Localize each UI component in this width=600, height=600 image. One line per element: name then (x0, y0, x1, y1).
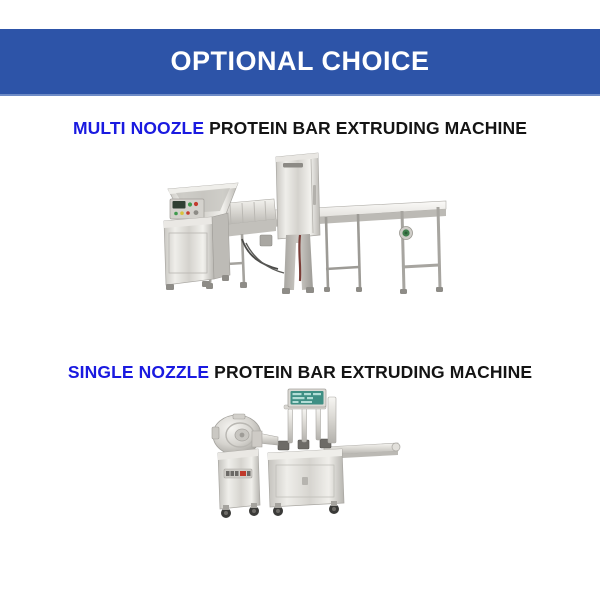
product-title-multi-nozzle: MULTI NOOZLE PROTEIN BAR EXTRUDING MACHI… (0, 118, 600, 139)
banner-title: OPTIONAL CHOICE (170, 48, 429, 75)
multi-nozzle-machine-illustration (150, 139, 450, 324)
product-photo-single-nozzle (0, 383, 600, 533)
product-title-rest-multi: PROTEIN BAR EXTRUDING MACHINE (204, 118, 527, 138)
product-title-accent-multi: MULTI NOOZLE (73, 118, 204, 138)
product-section-multi-nozzle: MULTI NOOZLE PROTEIN BAR EXTRUDING MACHI… (0, 118, 600, 331)
product-title-single-nozzle: SINGLE NOZZLE PROTEIN BAR EXTRUDING MACH… (0, 362, 600, 383)
product-section-single-nozzle: SINGLE NOZZLE PROTEIN BAR EXTRUDING MACH… (0, 362, 600, 533)
single-nozzle-machine-illustration (192, 383, 408, 523)
product-photo-multi-nozzle (0, 139, 600, 331)
optional-choice-banner: OPTIONAL CHOICE (0, 29, 600, 96)
product-title-accent-single: SINGLE NOZZLE (68, 362, 209, 382)
product-title-rest-single: PROTEIN BAR EXTRUDING MACHINE (209, 362, 532, 382)
